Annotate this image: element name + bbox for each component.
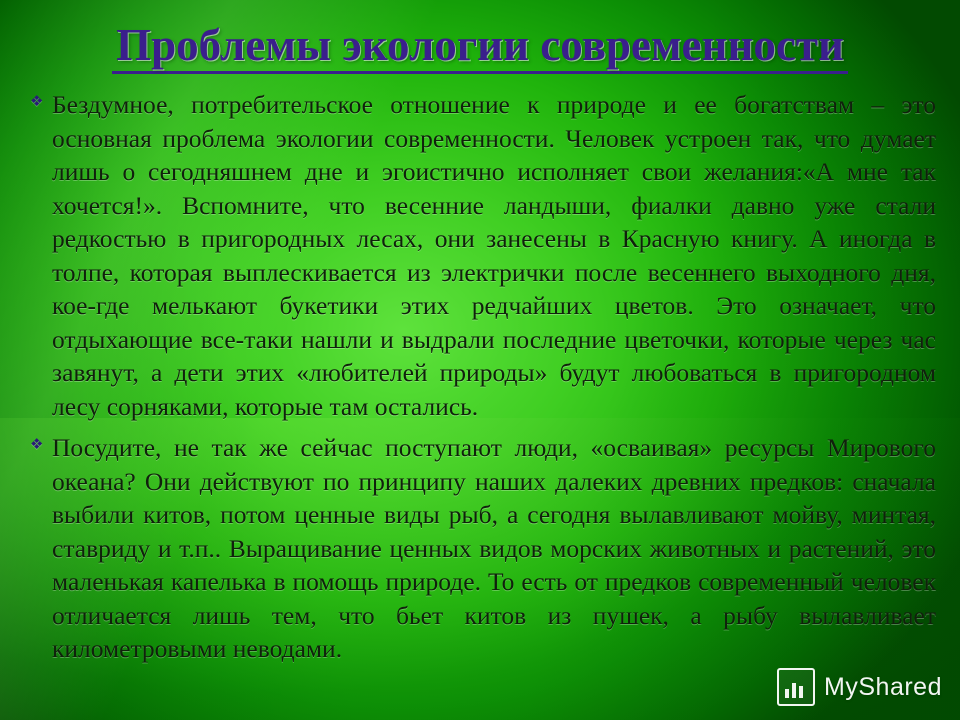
watermark-label: MyShared: [824, 673, 942, 702]
presentation-slide: Проблемы экологии современности ❖ Бездум…: [0, 0, 960, 720]
bar-chart-icon: [777, 668, 815, 706]
slide-body: ❖ Бездумное, потребительское отношение к…: [28, 88, 936, 674]
body-paragraph: ❖ Посудите, не так же сейчас поступают л…: [28, 431, 936, 666]
paragraph-text: Посудите, не так же сейчас поступают люд…: [52, 431, 936, 666]
body-paragraph: ❖ Бездумное, потребительское отношение к…: [28, 88, 936, 423]
bullet-icon: ❖: [30, 437, 44, 451]
myshared-watermark: MyShared: [777, 668, 942, 706]
page-title: Проблемы экологии современности: [112, 22, 848, 74]
paragraph-text: Бездумное, потребительское отношение к п…: [52, 88, 936, 423]
bullet-icon: ❖: [30, 94, 44, 108]
slide-title-container: Проблемы экологии современности: [0, 22, 960, 74]
